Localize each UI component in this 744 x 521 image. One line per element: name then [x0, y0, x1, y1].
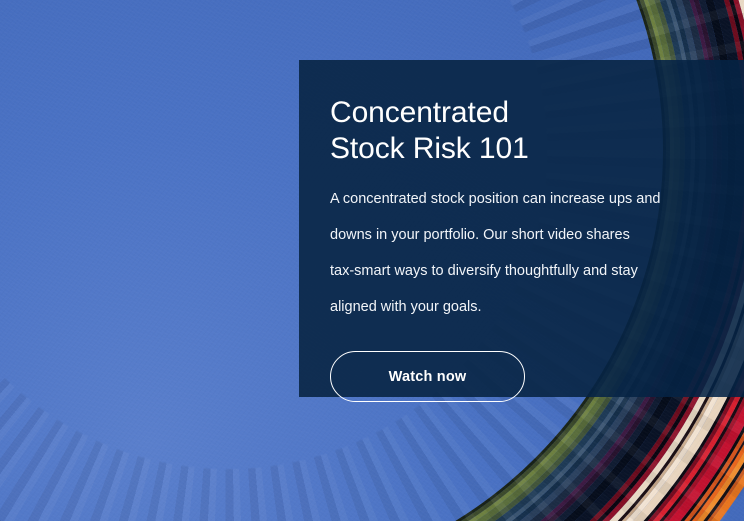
banner-content: Concentrated Stock Risk 101 A concentrat… — [330, 95, 710, 402]
banner-description: A concentrated stock position can increa… — [330, 181, 692, 325]
page-title: Concentrated Stock Risk 101 — [330, 95, 710, 167]
watch-now-button[interactable]: Watch now — [330, 351, 525, 402]
hero-banner: Concentrated Stock Risk 101 A concentrat… — [0, 0, 744, 521]
